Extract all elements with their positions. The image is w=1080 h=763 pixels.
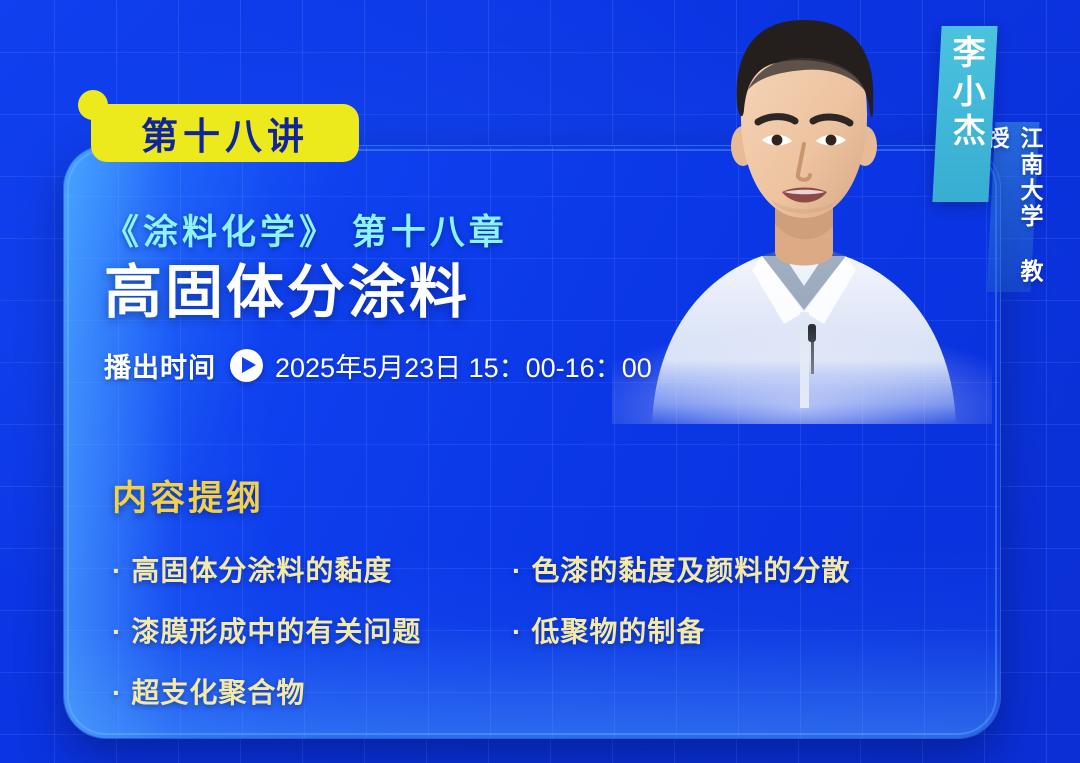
course-subtitle: 《涂料化学》 第十八章 [104,204,744,255]
bullet-icon: · [512,557,522,585]
speaker-name: 李小杰 [942,26,990,152]
airtime-value: 2025年5月23日 15：00-16：00 [275,346,652,385]
airtime-label: 播出时间 [104,346,216,385]
bullet-icon: · [112,618,122,646]
bullet-icon: · [512,618,522,646]
outline-columns: · 高固体分涂料的黏度 · 漆膜形成中的有关问题 · 超支化聚合物 · 色漆的黏… [112,549,932,711]
outline-column-left: · 高固体分涂料的黏度 · 漆膜形成中的有关问题 · 超支化聚合物 [112,549,512,711]
airtime-row: 播出时间 2025年5月23日 15：00-16：00 [104,346,744,385]
lesson-number-badge: 第十八讲 [91,104,359,162]
title-block: 《涂料化学》 第十八章 高固体分涂料 播出时间 2025年5月23日 15：00… [104,204,744,385]
outline-item: · 色漆的黏度及颜料的分散 [512,549,912,589]
bullet-icon: · [112,557,122,585]
outline-item-label: 高固体分涂料的黏度 [131,549,392,589]
outline-item-label: 超支化聚合物 [131,671,305,711]
lecture-title: 高固体分涂料 [104,261,744,326]
outline-item-label: 色漆的黏度及颜料的分散 [531,549,850,589]
lecture-poster: 江南大学 教授 李小杰 第十八讲 《涂料化学》 第十八章 高固体分涂料 播出时间… [0,0,1080,763]
outline-heading: 内容提纲 [112,470,932,521]
outline-item-label: 低聚物的制备 [531,610,705,650]
outline-item: · 超支化聚合物 [112,671,512,711]
play-circle-icon[interactable] [230,349,263,382]
outline-item-label: 漆膜形成中的有关问题 [131,610,421,650]
outline-column-right: · 色漆的黏度及颜料的分散 · 低聚物的制备 [512,549,912,711]
outline-item: · 低聚物的制备 [512,610,912,650]
outline-item: · 漆膜形成中的有关问题 [112,610,512,650]
speaker-name-band: 李小杰 [932,26,997,202]
speaker-affiliation-band: 江南大学 教授 [987,122,1040,292]
bullet-icon: · [112,679,122,707]
outline-block: 内容提纲 · 高固体分涂料的黏度 · 漆膜形成中的有关问题 · 超支化聚合物 [112,470,932,711]
outline-item: · 高固体分涂料的黏度 [112,549,512,589]
